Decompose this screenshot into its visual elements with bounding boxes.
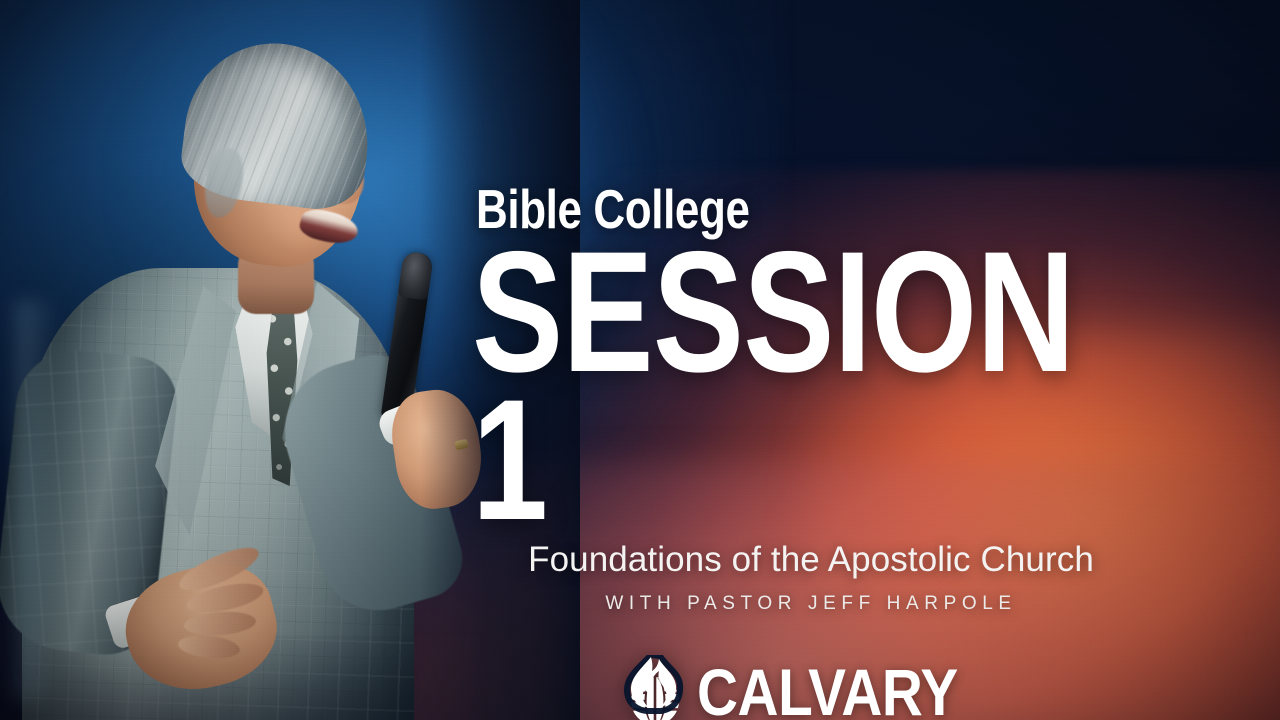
- subtitle-text: Foundations of the Apostolic Church: [470, 541, 1152, 580]
- promo-graphic: Bible College SESSION 1 Foundations of t…: [0, 0, 1280, 720]
- title-block: Bible College SESSION 1 Foundations of t…: [470, 182, 1152, 720]
- calvary-wordmark: CALVARY: [697, 659, 958, 720]
- flame-globe-icon: [621, 655, 689, 720]
- calvary-logo: CALVARY: [470, 655, 1152, 720]
- presenter-credit: WITH PASTOR JEFF HARPOLE: [470, 593, 1152, 615]
- page-title: SESSION 1: [472, 239, 1013, 535]
